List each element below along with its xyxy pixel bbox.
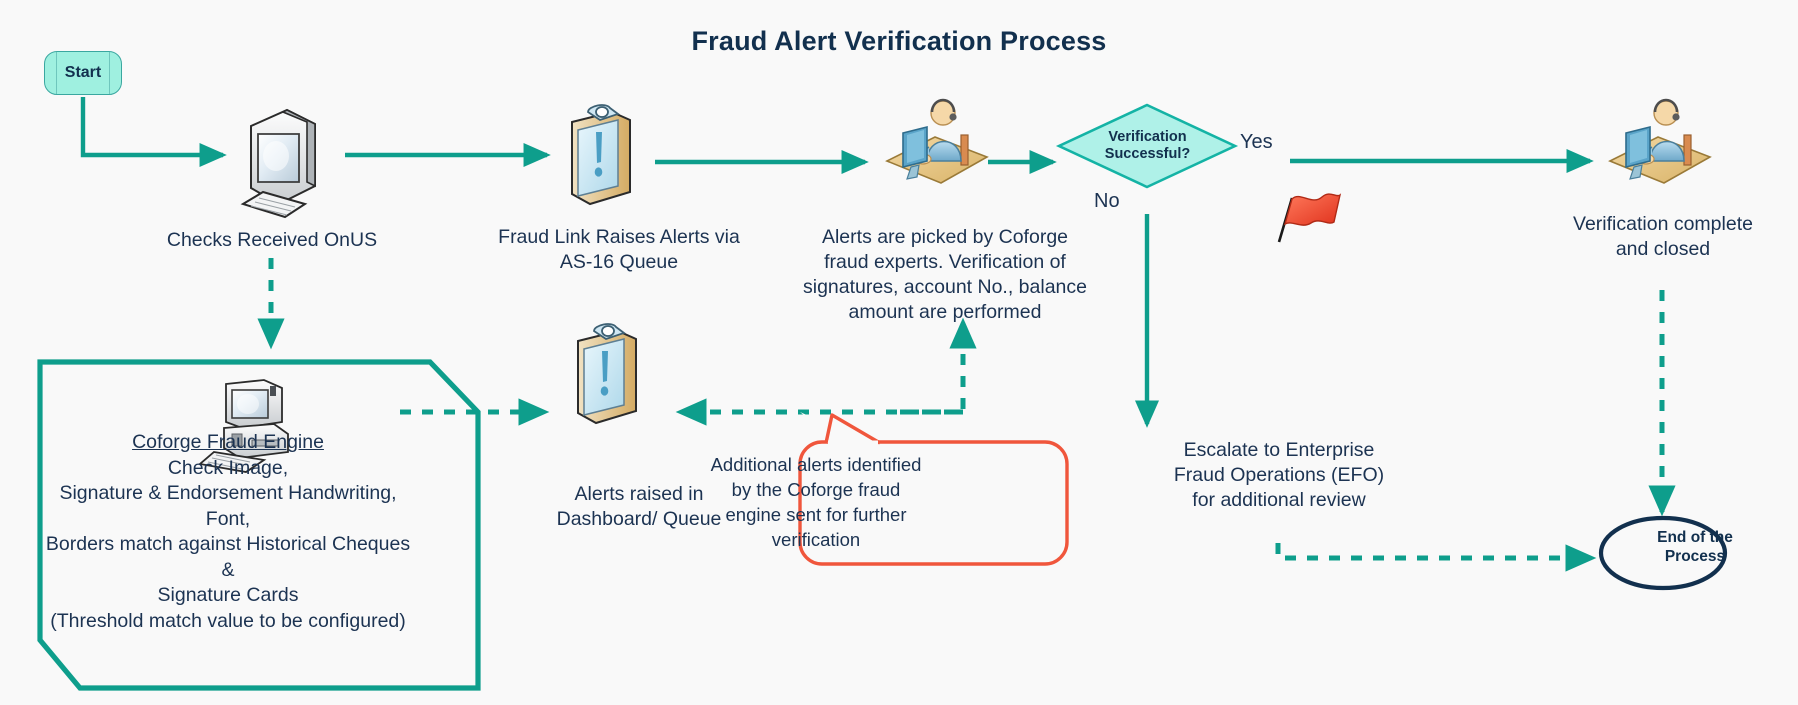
end-label-line2: Process	[1630, 547, 1760, 566]
red-flag-icon	[1279, 194, 1340, 242]
checks-received-label: Checks Received OnUS	[150, 228, 394, 253]
end-node-label: End of the Process	[1630, 528, 1760, 566]
callout-text: Additional alerts identified by the Cofo…	[703, 452, 929, 552]
agent-at-desk-icon	[887, 100, 987, 183]
edge-label-yes: Yes	[1240, 131, 1273, 154]
decision-label-line2: Successful?	[1105, 146, 1190, 163]
escalate-label: Escalate to Enterprise Fraud Operations …	[1148, 438, 1410, 513]
edge-label-no: No	[1094, 190, 1120, 213]
decision-label-line1: Verification	[1108, 129, 1186, 146]
clipboard-alert-icon	[578, 324, 636, 423]
fraud-engine-heading: Coforge Fraud Engine	[38, 430, 418, 456]
start-node-label: Start	[44, 51, 122, 95]
experts-label: Alerts are picked by Coforge fraud exper…	[795, 225, 1095, 325]
fraud-engine-body: Check Image, Signature & Endorsement Han…	[38, 456, 418, 635]
connector-alerts-back-to-experts	[900, 322, 963, 412]
decision-node-label: Verification Successful?	[1060, 105, 1235, 187]
verification-complete-label: Verification complete and closed	[1530, 212, 1796, 262]
agent-at-desk-icon	[1610, 100, 1710, 183]
page-title: Fraud Alert Verification Process	[0, 26, 1798, 57]
clipboard-alert-icon	[572, 105, 630, 204]
connector-escalate-to-end	[1278, 543, 1592, 558]
end-label-line1: End of the	[1630, 528, 1760, 547]
fraud-link-label: Fraud Link Raises Alerts via AS-16 Queue	[478, 225, 760, 275]
connector-start-to-checks	[83, 97, 223, 155]
desktop-computer-icon	[243, 110, 315, 217]
fraud-engine-text: Coforge Fraud Engine Check Image, Signat…	[38, 430, 418, 634]
